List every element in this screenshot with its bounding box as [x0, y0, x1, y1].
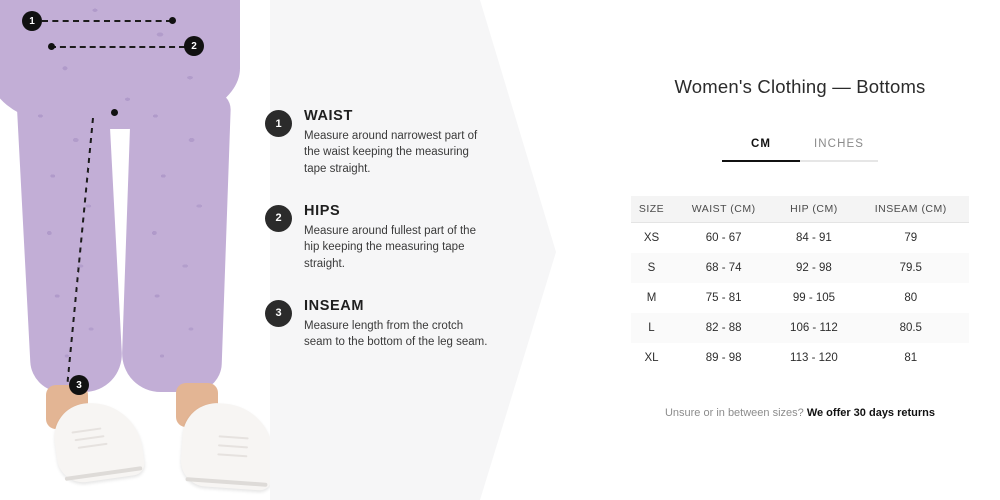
cell-hip: 99 - 105 — [775, 283, 852, 313]
measurement-steps: 1 WAIST Measure around narrowest part of… — [265, 108, 505, 377]
cell-size: M — [631, 283, 672, 313]
step-waist: 1 WAIST Measure around narrowest part of… — [265, 108, 505, 177]
step-desc-waist: Measure around narrowest part of the wai… — [304, 128, 489, 177]
step-hips: 2 HIPS Measure around fullest part of th… — [265, 203, 505, 272]
unit-tabs: CM INCHES — [600, 138, 1000, 162]
step-badge-1: 1 — [265, 110, 292, 137]
step-title-inseam: INSEAM — [304, 298, 489, 314]
returns-note-question: Unsure or in between sizes? — [665, 407, 804, 419]
table-row: XL 89 - 98 113 - 120 81 — [631, 343, 969, 373]
size-chart-panel: Women's Clothing — Bottoms CM INCHES SIZ… — [600, 0, 1000, 500]
step-desc-inseam: Measure length from the crotch seam to t… — [304, 318, 489, 351]
tab-inches[interactable]: INCHES — [800, 138, 878, 162]
cell-inseam: 81 — [853, 343, 969, 373]
step-desc-hips: Measure around fullest part of the hip k… — [304, 223, 489, 272]
step-title-hips: HIPS — [304, 203, 489, 219]
table-row: XS 60 - 67 84 - 91 79 — [631, 223, 969, 254]
column-header-size: SIZE — [631, 196, 672, 223]
table-row: M 75 - 81 99 - 105 80 — [631, 283, 969, 313]
returns-note-policy[interactable]: We offer 30 days returns — [807, 407, 935, 419]
cell-inseam: 79.5 — [853, 253, 969, 283]
cell-size: XS — [631, 223, 672, 254]
size-table: SIZE WAIST (CM) HIP (CM) INSEAM (CM) XS … — [631, 196, 969, 373]
inseam-measure-line — [66, 118, 94, 385]
step-title-waist: WAIST — [304, 108, 489, 124]
marker-hips[interactable]: 2 — [184, 36, 204, 56]
cell-waist: 60 - 67 — [672, 223, 775, 254]
page-title: Women's Clothing — Bottoms — [600, 76, 1000, 98]
table-row: S 68 - 74 92 - 98 79.5 — [631, 253, 969, 283]
cell-inseam: 80.5 — [853, 313, 969, 343]
marker-waist[interactable]: 1 — [22, 11, 42, 31]
returns-note: Unsure or in between sizes? We offer 30 … — [600, 407, 1000, 419]
table-header-row: SIZE WAIST (CM) HIP (CM) INSEAM (CM) — [631, 196, 969, 223]
step-badge-2: 2 — [265, 205, 292, 232]
waist-measure-line — [42, 20, 172, 22]
cell-hip: 113 - 120 — [775, 343, 852, 373]
inseam-top-dot — [111, 109, 118, 116]
table-row: L 82 - 88 106 - 112 80.5 — [631, 313, 969, 343]
cell-size: XL — [631, 343, 672, 373]
cell-inseam: 79 — [853, 223, 969, 254]
cell-size: S — [631, 253, 672, 283]
measurement-overlay: 1 2 3 — [0, 0, 270, 500]
cell-waist: 68 - 74 — [672, 253, 775, 283]
column-header-hip: HIP (CM) — [775, 196, 852, 223]
step-inseam: 3 INSEAM Measure length from the crotch … — [265, 298, 505, 351]
cell-hip: 84 - 91 — [775, 223, 852, 254]
cell-size: L — [631, 313, 672, 343]
cell-waist: 75 - 81 — [672, 283, 775, 313]
cell-waist: 89 - 98 — [672, 343, 775, 373]
size-guide-page: 1 2 3 1 WAIST Measure around narrowest p… — [0, 0, 1000, 500]
column-header-waist: WAIST (CM) — [672, 196, 775, 223]
column-header-inseam: INSEAM (CM) — [853, 196, 969, 223]
cell-inseam: 80 — [853, 283, 969, 313]
step-badge-3: 3 — [265, 300, 292, 327]
cell-waist: 82 - 88 — [672, 313, 775, 343]
cell-hip: 106 - 112 — [775, 313, 852, 343]
hip-measure-line — [50, 46, 185, 48]
tab-cm[interactable]: CM — [722, 138, 800, 162]
hip-endpoint-dot — [48, 43, 55, 50]
marker-inseam[interactable]: 3 — [69, 375, 89, 395]
cell-hip: 92 - 98 — [775, 253, 852, 283]
waist-endpoint-dot — [169, 17, 176, 24]
